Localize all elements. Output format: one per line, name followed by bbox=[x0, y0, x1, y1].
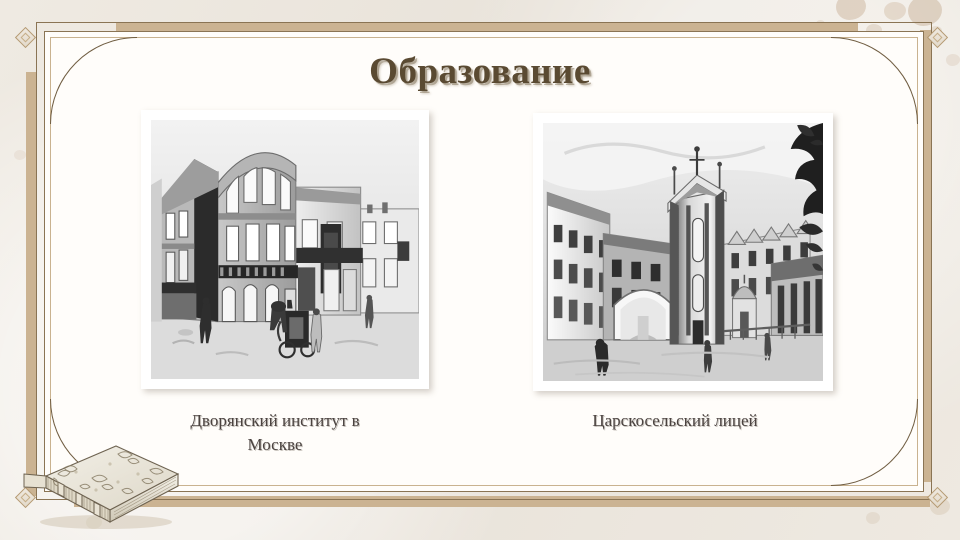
page-title: Образование bbox=[0, 50, 960, 93]
picture-right bbox=[533, 113, 833, 391]
engraving-noble-institute bbox=[151, 120, 419, 379]
old-book-illustration bbox=[18, 438, 188, 530]
ink-splatter bbox=[14, 150, 26, 160]
picture-left bbox=[141, 110, 429, 389]
ink-splatter bbox=[866, 512, 880, 524]
diamond-ornament-top-left bbox=[15, 27, 36, 48]
ink-splatter bbox=[836, 0, 866, 20]
slide-canvas: Образование bbox=[0, 0, 960, 540]
ink-splatter bbox=[884, 2, 906, 20]
engraving-tsarskoye-selo-lyceum bbox=[543, 123, 823, 381]
caption-right: Царскосельский лицей bbox=[525, 409, 825, 433]
old-book-icon bbox=[18, 438, 188, 530]
